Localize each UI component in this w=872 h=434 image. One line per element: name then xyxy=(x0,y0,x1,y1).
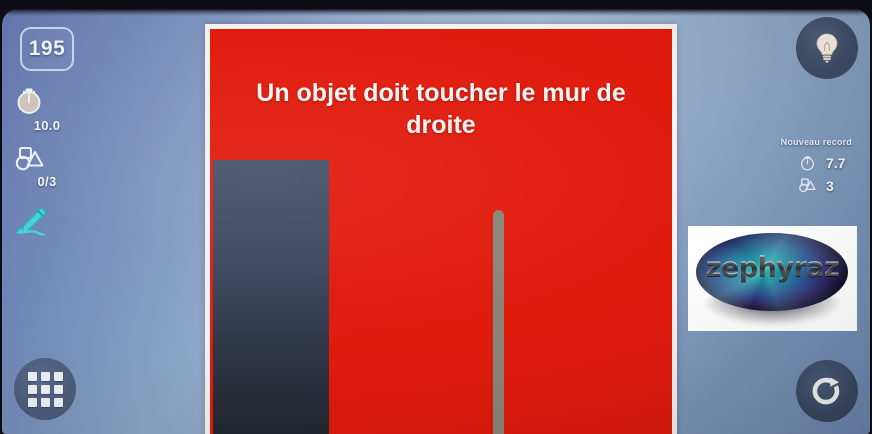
timer-value: 10.0 xyxy=(12,118,82,133)
zephyraz-watermark-logo: zephyraz xyxy=(688,226,857,331)
grid-cell xyxy=(41,372,50,381)
objects-group: 0/3 xyxy=(12,145,82,189)
stopwatch-icon xyxy=(12,83,82,117)
logo-text: zephyraz xyxy=(688,252,857,283)
left-wall-block xyxy=(213,160,329,434)
record-objects-row: 3 xyxy=(760,176,852,195)
refresh-icon xyxy=(810,374,844,408)
play-field-frame: Un objet doit toucher le mur de droite xyxy=(205,24,677,434)
timer-group: 10.0 xyxy=(12,83,82,133)
device-photo-frame: 195 10.0 xyxy=(0,0,872,434)
grid-cell xyxy=(28,372,37,381)
record-label: Nouveau record xyxy=(760,137,852,147)
lightbulb-icon xyxy=(813,32,841,64)
play-field-canvas[interactable]: Un objet doit toucher le mur de droite xyxy=(210,29,672,434)
levels-menu-button[interactable] xyxy=(14,358,76,420)
device-bezel-edge xyxy=(2,9,870,16)
grid-cell xyxy=(41,385,50,394)
right-pillar-target xyxy=(493,210,504,434)
grid-cell xyxy=(28,385,37,394)
goal-objective-text: Un objet doit toucher le mur de droite xyxy=(232,77,650,141)
grid-cell xyxy=(54,385,63,394)
grid-menu-icon xyxy=(28,372,63,407)
record-objects-value: 3 xyxy=(826,178,852,194)
stopwatch-icon xyxy=(798,153,817,172)
left-hud-panel: 195 10.0 xyxy=(12,21,82,238)
record-time-row: 7.7 xyxy=(760,153,852,172)
pencil-draw-icon xyxy=(12,204,82,238)
shapes-icon xyxy=(12,145,82,173)
hint-button[interactable] xyxy=(796,17,858,79)
objects-count: 0/3 xyxy=(12,174,82,189)
pencil-draw-tool-button[interactable] xyxy=(12,204,82,238)
record-time-value: 7.7 xyxy=(826,155,852,171)
grid-cell xyxy=(54,372,63,381)
game-screen: 195 10.0 xyxy=(2,9,870,434)
record-panel: Nouveau record 7.7 xyxy=(760,137,852,199)
restart-button[interactable] xyxy=(796,360,858,422)
shapes-icon xyxy=(797,177,817,194)
grid-cell xyxy=(28,398,37,407)
grid-cell xyxy=(54,398,63,407)
level-badge: 195 xyxy=(20,27,74,71)
grid-cell xyxy=(41,398,50,407)
